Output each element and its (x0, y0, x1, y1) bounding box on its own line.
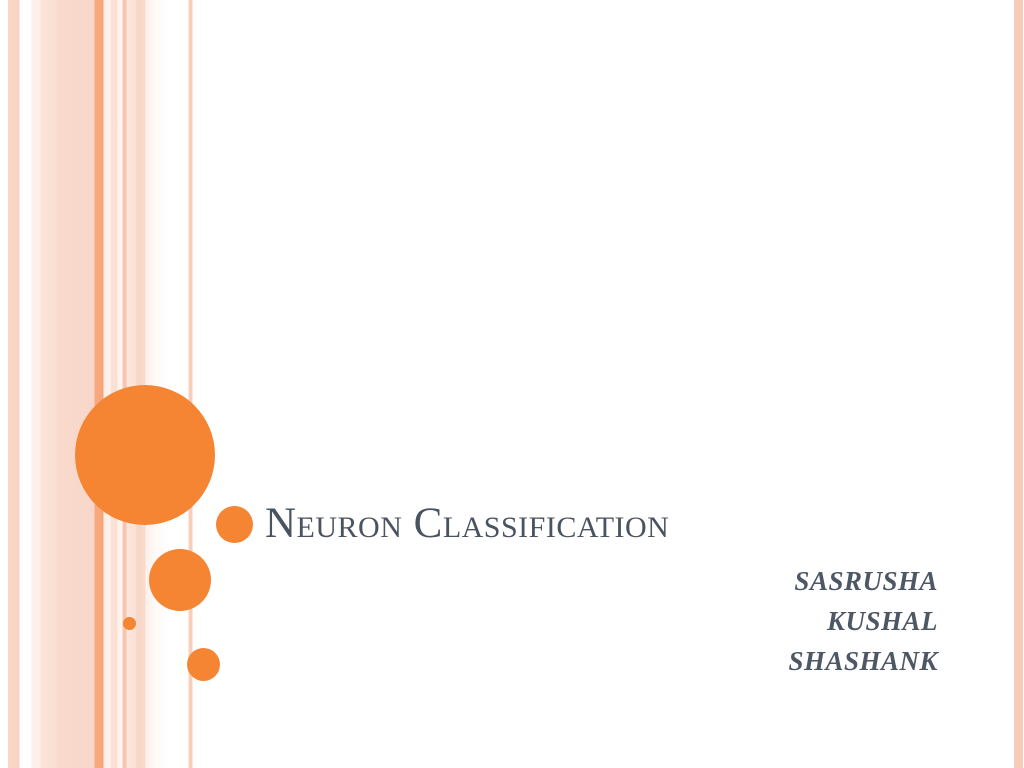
decorative-circle-tiny (187, 648, 220, 681)
decorative-circle-dot (123, 617, 136, 630)
slide-title: Neuron Classification (265, 501, 669, 546)
decorative-circle-large (75, 385, 215, 525)
presentation-slide: Neuron Classification SASRUSHA KUSHAL SH… (0, 0, 1024, 768)
left-stripe-decoration (0, 0, 200, 768)
decorative-circle-medium (149, 549, 211, 611)
author-name-1: SASRUSHA (518, 562, 938, 602)
author-list: SASRUSHA KUSHAL SHASHANK (518, 562, 938, 682)
author-name-2: KUSHAL (518, 602, 938, 642)
right-stripe-decoration (1013, 0, 1024, 768)
author-name-3: SHASHANK (518, 642, 938, 682)
decorative-circle-small (216, 506, 253, 543)
